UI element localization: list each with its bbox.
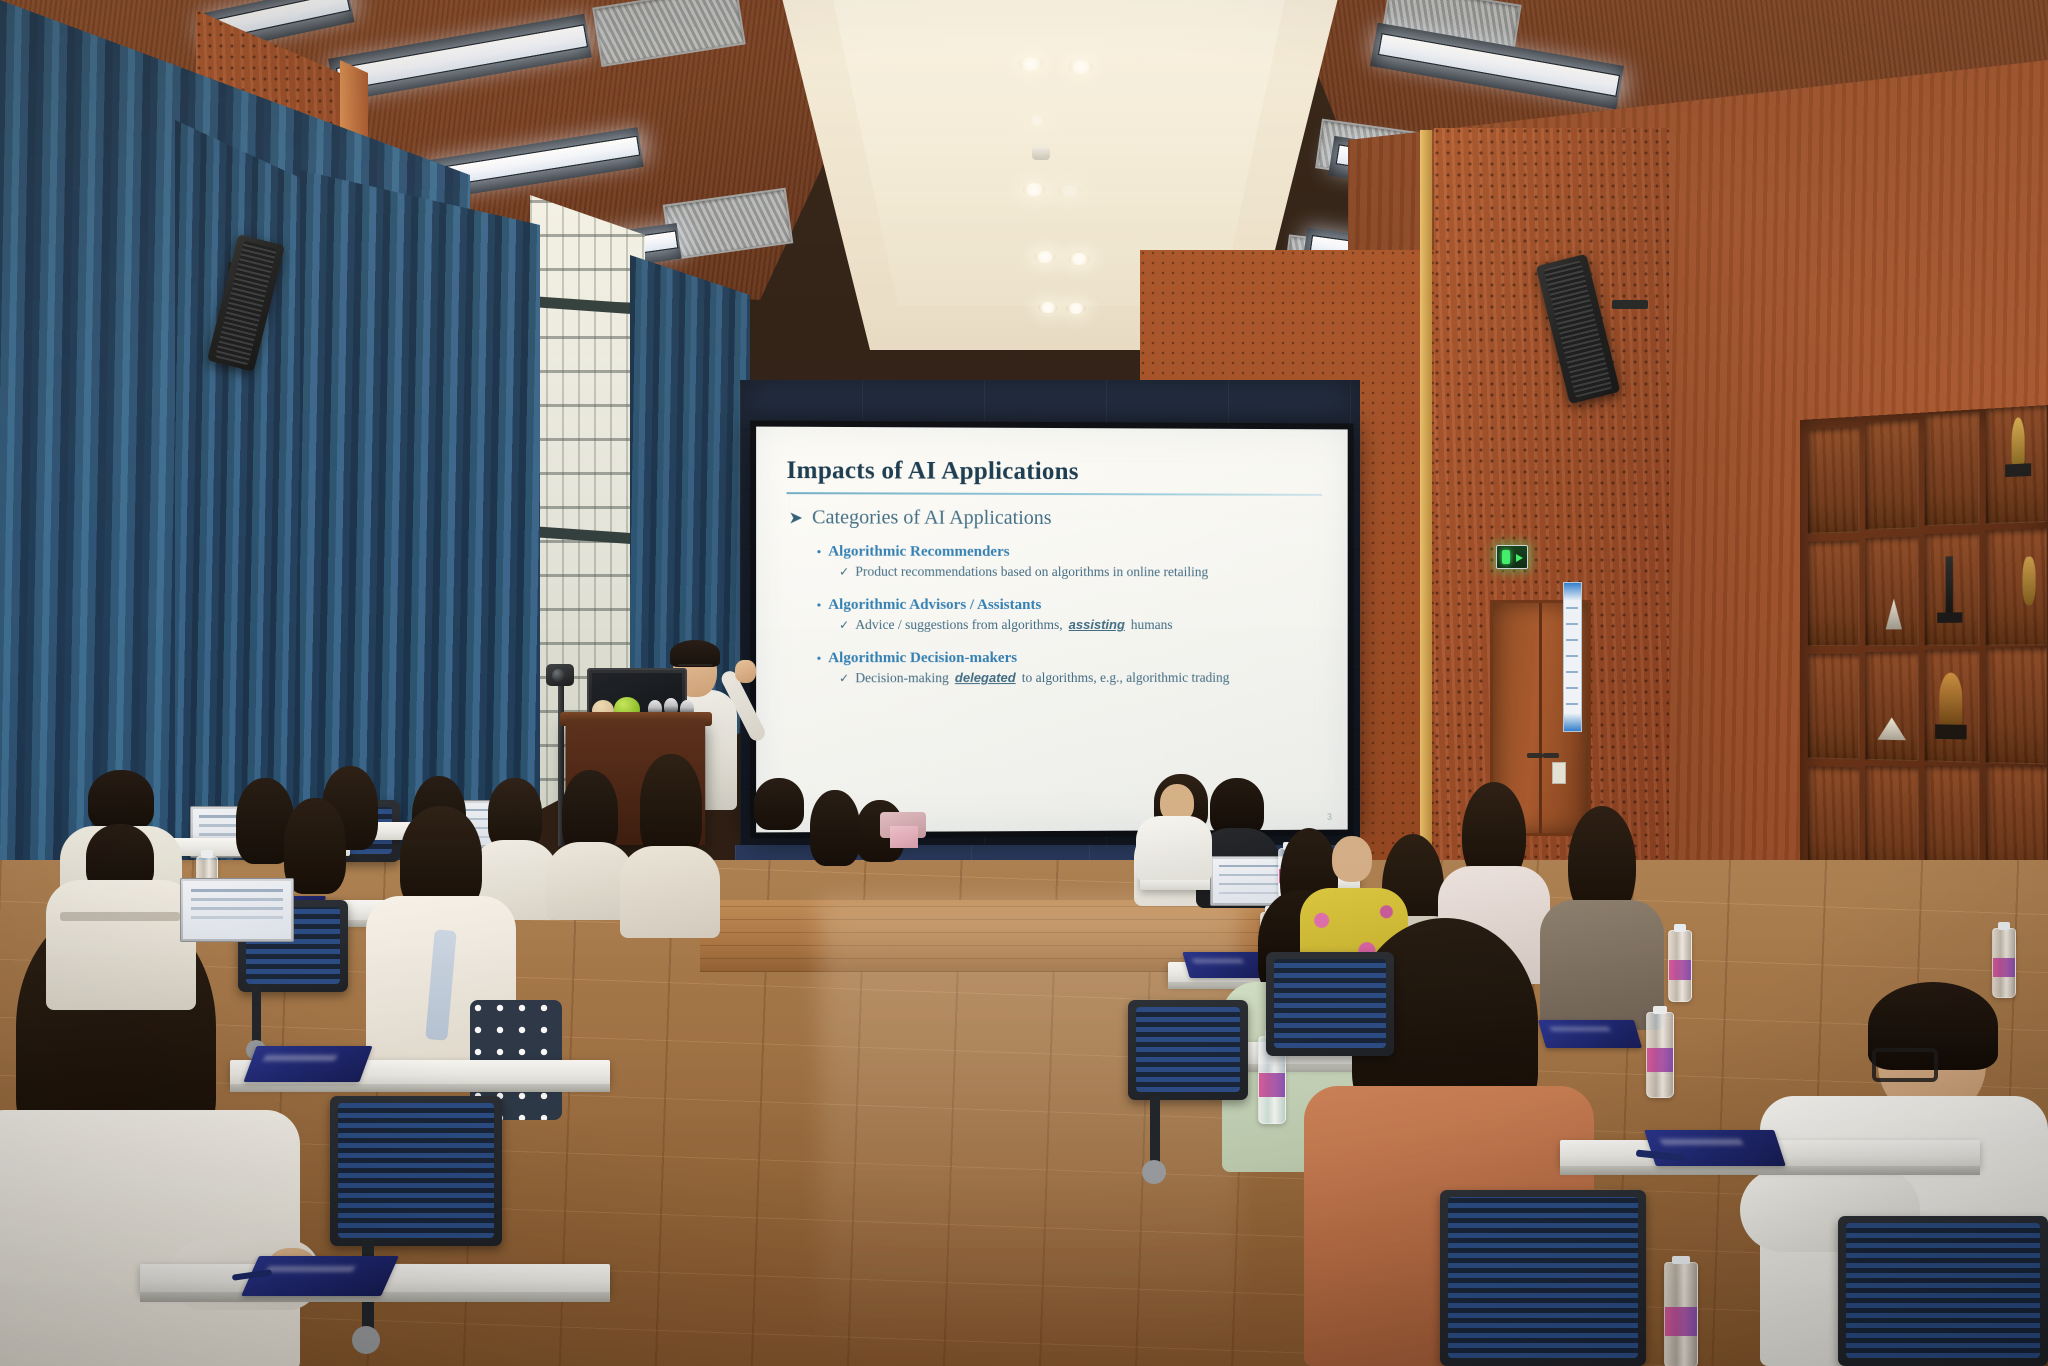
shelf-cell [1808, 766, 1860, 873]
slide-group-heading-text: Algorithmic Decision-makers [828, 650, 1017, 667]
conference-folder[interactable] [1644, 1130, 1786, 1166]
ceiling-downlight [1068, 253, 1090, 265]
ceiling-downlight [1058, 185, 1082, 197]
door-handle[interactable] [1543, 753, 1559, 758]
conference-folder[interactable] [1182, 952, 1269, 978]
slide-group-sub: ✓ Decision-making delegated to algorithm… [839, 670, 1322, 687]
trophy [1946, 556, 1953, 614]
ceiling-downlight [1018, 57, 1044, 71]
shelf-cell [1808, 654, 1860, 760]
trophy [1886, 599, 1902, 630]
attendee-torso [620, 846, 720, 938]
chair-leg [252, 986, 261, 1044]
wall-trim-gold [1420, 130, 1432, 930]
slide-group-heading: • Algorithmic Recommenders [817, 544, 1322, 562]
projection-screen: Impacts of AI Applications ➤ Categories … [756, 427, 1348, 833]
chair[interactable] [330, 1096, 502, 1246]
attendee-hair [640, 754, 702, 858]
ceiling-downlight [1034, 251, 1056, 263]
camera-lens-icon [552, 669, 565, 682]
desk-edge [1560, 1166, 1980, 1175]
laptop[interactable] [180, 878, 294, 942]
slide-title: Impacts of AI Applications [786, 457, 1322, 487]
slide-group-heading: • Algorithmic Decision-makers [817, 650, 1322, 667]
bullet-dot-icon: • [817, 598, 821, 613]
shelf-cell [1925, 533, 1980, 646]
chair-leg [1150, 1096, 1160, 1166]
slide-group: • Algorithmic Recommenders ✓ Product rec… [817, 544, 1322, 581]
trophy [1878, 717, 1907, 740]
ceiling-downlight [1028, 116, 1046, 126]
exit-arrow-icon [1516, 554, 1523, 562]
presenter-hand [735, 660, 756, 683]
slide-sub-emphasis: delegated [955, 670, 1016, 685]
slide-page-number: 3 [1327, 812, 1332, 822]
slide-group-heading-text: Algorithmic Recommenders [828, 544, 1009, 561]
conference-folder[interactable] [1538, 1020, 1642, 1048]
trophy-base [1935, 724, 1967, 739]
slide-sub-post: humans [1131, 617, 1173, 633]
water-bottle[interactable] [1668, 930, 1692, 1002]
water-bottle[interactable] [1664, 1262, 1698, 1366]
slide-group-sub: ✓ Product recommendations based on algor… [839, 564, 1322, 581]
shelf-cell [1808, 540, 1860, 646]
slide-lead-bullet: ➤ Categories of AI Applications [789, 506, 1323, 530]
shelf-cell [1865, 652, 1918, 761]
bullet-dot-icon: • [817, 545, 821, 560]
trophy [1939, 673, 1962, 725]
chair[interactable] [1266, 952, 1394, 1056]
arrow-bullet-icon: ➤ [789, 508, 803, 528]
stage-item-book [890, 826, 918, 848]
slide-sub-pre: Advice / suggestions from algorithms, [855, 617, 1062, 633]
attendee-torso [0, 1110, 300, 1366]
door-leaf-split [1539, 603, 1542, 833]
projection-screen-frame: Impacts of AI Applications ➤ Categories … [750, 420, 1354, 838]
wall-poster [1563, 582, 1582, 732]
slide-group: • Algorithmic Decision-makers ✓ Decision… [817, 650, 1322, 686]
checkmark-icon: ✓ [839, 671, 849, 686]
slide-sub-pre: Product recommendations based on algorit… [855, 564, 1208, 580]
attendee-torso [1540, 900, 1664, 1030]
chair[interactable] [1440, 1190, 1646, 1366]
slide-lead-text: Categories of AI Applications [812, 506, 1052, 530]
lecture-hall-photo: Impacts of AI Applications ➤ Categories … [0, 0, 2048, 1366]
slide-group-heading: • Algorithmic Advisors / Assistants [817, 597, 1322, 614]
attendee-shirt-print [60, 912, 180, 921]
slide-group-heading-text: Algorithmic Advisors / Assistants [828, 597, 1041, 614]
ceiling-downlight [1068, 60, 1094, 74]
attendee-head [1332, 836, 1372, 882]
desk-edge [230, 1084, 610, 1092]
shelf-cell [1986, 528, 2047, 645]
trophy-base [2005, 463, 2031, 477]
emergency-exit-sign [1496, 545, 1528, 569]
conference-folder[interactable] [243, 1046, 372, 1082]
shelf-cell [1925, 650, 1980, 763]
trophy [2012, 417, 2025, 464]
trophy-shelf-unit [1800, 404, 2048, 905]
shelf-cell [1986, 648, 2047, 765]
chair-caster [1142, 1160, 1166, 1184]
slide-group: • Algorithmic Advisors / Assistants ✓ Ad… [817, 597, 1322, 633]
shelf-cell [1808, 427, 1860, 534]
water-bottle[interactable] [1992, 928, 2016, 998]
shelf-cell [1986, 405, 2047, 524]
trophy [2022, 556, 2035, 605]
chair[interactable] [1128, 1000, 1248, 1100]
speaker-bracket-right [1612, 300, 1648, 309]
ceiling-downlight [1066, 303, 1086, 314]
shelf-cell [1865, 537, 1918, 646]
chair-caster [352, 1326, 380, 1354]
smoke-detector-icon [1032, 146, 1050, 160]
bullet-dot-icon: • [817, 651, 821, 666]
checkmark-icon: ✓ [839, 565, 849, 580]
slide-title-rule [786, 492, 1322, 496]
attendee-torso [46, 880, 196, 1010]
shelf-cell [1865, 419, 1918, 530]
checkmark-icon: ✓ [839, 618, 849, 633]
presentation-slide: Impacts of AI Applications ➤ Categories … [756, 427, 1348, 833]
presenter-hair [670, 640, 720, 667]
door-handle[interactable] [1527, 753, 1543, 758]
attendee-glasses [1872, 1048, 1938, 1082]
slide-group-sub: ✓ Advice / suggestions from algorithms, … [839, 617, 1322, 633]
water-bottle[interactable] [1646, 1012, 1674, 1098]
slide-sub-pre: Decision-making [855, 670, 949, 686]
trophy-base [1937, 612, 1962, 623]
attendee-torso [1136, 816, 1212, 880]
chair[interactable] [1838, 1216, 2048, 1366]
slide-sub-post: to algorithms, e.g., algorithmic trading [1022, 670, 1230, 686]
shelf-cell [1925, 411, 1980, 526]
ceiling-downlight [1022, 183, 1046, 196]
wall-switch-plate[interactable] [1552, 762, 1566, 784]
exit-running-man-icon [1502, 550, 1510, 564]
attendee-hair [754, 778, 804, 830]
attendee-hair [810, 790, 860, 866]
slide-sub-emphasis: assisting [1069, 617, 1125, 632]
ceiling-downlight [1038, 302, 1058, 313]
attendee-hair [88, 770, 154, 830]
